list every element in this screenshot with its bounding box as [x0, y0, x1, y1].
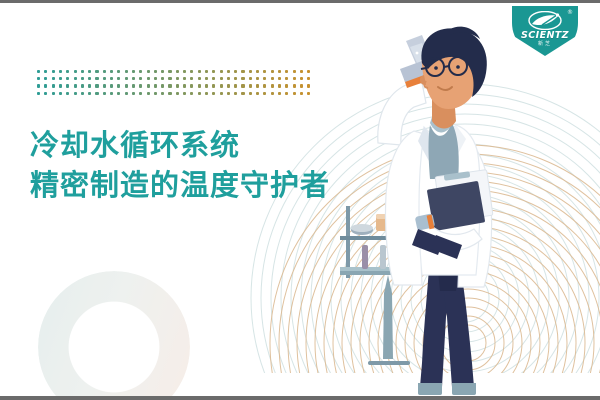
grid-dot — [44, 84, 47, 87]
grid-dot — [168, 92, 171, 95]
grid-dot — [139, 77, 142, 80]
brand-logo[interactable]: SCIENTZ 新芝 ® — [512, 6, 578, 56]
grid-dot — [227, 84, 230, 87]
grid-dot — [227, 92, 230, 95]
grid-dot — [147, 77, 150, 80]
grid-dot — [95, 84, 98, 87]
grid-dot — [66, 77, 69, 80]
grid-dot — [81, 92, 84, 95]
grid-dot — [110, 84, 113, 87]
grid-dot — [278, 70, 281, 73]
grid-dot — [88, 70, 91, 73]
grid-dot — [285, 92, 288, 95]
grid-dot — [117, 84, 120, 87]
grid-dot — [95, 77, 98, 80]
grid-dot — [183, 84, 186, 87]
grid-dot — [256, 84, 259, 87]
grid-dot — [285, 84, 288, 87]
grid-dot — [81, 84, 84, 87]
grid-dot — [59, 84, 62, 87]
grid-dot — [161, 70, 164, 73]
grid-dot — [176, 77, 179, 80]
grid-dot — [293, 84, 296, 87]
grid-dot — [125, 77, 128, 80]
grid-dot — [52, 77, 55, 80]
grid-dot — [249, 70, 252, 73]
grid-dot — [110, 70, 113, 73]
grid-dot — [161, 77, 164, 80]
grid-dot — [285, 70, 288, 73]
grid-dot — [307, 92, 310, 95]
grid-dot — [234, 70, 237, 73]
headline-line-1: 冷却水循环系统 — [30, 125, 330, 165]
grid-dot — [183, 70, 186, 73]
grid-dot — [147, 92, 150, 95]
grid-dot — [249, 92, 252, 95]
grid-dot — [212, 77, 215, 80]
logo-chinese-name: 新芝 — [538, 41, 552, 47]
grid-dot — [271, 92, 274, 95]
grid-dot — [154, 84, 157, 87]
grid-dot — [66, 70, 69, 73]
grid-dot — [132, 70, 135, 73]
grid-dot — [59, 70, 62, 73]
grid-dot — [271, 84, 274, 87]
clipboard-prop — [427, 170, 493, 232]
grid-dot — [147, 70, 150, 73]
grid-dot — [81, 70, 84, 73]
grid-dot — [168, 70, 171, 73]
grid-dot — [125, 84, 128, 87]
grid-dot — [44, 77, 47, 80]
grid-dot — [139, 92, 142, 95]
grid-dot — [132, 92, 135, 95]
grid-dot — [190, 84, 193, 87]
grid-dot — [110, 92, 113, 95]
grid-dot — [293, 92, 296, 95]
grid-dot — [293, 70, 296, 73]
grid-dot — [278, 84, 281, 87]
grid-dot — [59, 92, 62, 95]
grid-dot — [103, 84, 106, 87]
grid-dot — [249, 84, 252, 87]
grid-dot — [37, 92, 40, 95]
grid-dot — [307, 84, 310, 87]
registered-trademark-icon: ® — [567, 9, 573, 16]
grid-dot — [198, 70, 201, 73]
grid-dot — [256, 70, 259, 73]
grid-dot — [212, 84, 215, 87]
grid-dot — [285, 77, 288, 80]
grid-dot — [198, 77, 201, 80]
grid-dot — [154, 92, 157, 95]
grid-dot — [241, 84, 244, 87]
grid-dot — [234, 92, 237, 95]
grid-dot — [271, 77, 274, 80]
grid-dot — [74, 84, 77, 87]
grid-dot — [103, 92, 106, 95]
grid-dot — [95, 70, 98, 73]
grid-dot — [52, 70, 55, 73]
grid-dot — [263, 92, 266, 95]
grid-dot — [241, 70, 244, 73]
grid-dot — [234, 84, 237, 87]
grid-dot — [132, 77, 135, 80]
grid-dot — [205, 70, 208, 73]
grid-dot — [212, 92, 215, 95]
grid-dot — [161, 84, 164, 87]
grid-dot — [263, 77, 266, 80]
grid-dot — [307, 70, 310, 73]
grid-dot — [263, 84, 266, 87]
grid-dot — [44, 70, 47, 73]
grid-dot — [37, 84, 40, 87]
grid-dot — [168, 84, 171, 87]
logo-wordmark: SCIENTZ — [521, 31, 569, 41]
grid-dot — [300, 92, 303, 95]
grid-dot — [227, 77, 230, 80]
grid-dot — [139, 70, 142, 73]
grid-dot — [117, 92, 120, 95]
scientz-swoosh-emblem-icon — [528, 11, 562, 30]
grid-dot — [183, 92, 186, 95]
dot-grid-decoration — [37, 70, 313, 100]
grid-dot — [117, 70, 120, 73]
grid-dot — [278, 92, 281, 95]
grid-dot — [300, 77, 303, 80]
grid-dot — [307, 77, 310, 80]
grid-dot — [205, 84, 208, 87]
grid-dot — [176, 70, 179, 73]
grid-dot — [176, 84, 179, 87]
grid-dot — [139, 84, 142, 87]
grid-dot — [256, 92, 259, 95]
grid-dot — [161, 92, 164, 95]
grid-dot — [154, 77, 157, 80]
grid-dot — [81, 77, 84, 80]
grid-dot — [205, 77, 208, 80]
headline-block: 冷却水循环系统 精密制造的温度守护者 — [30, 125, 330, 205]
grid-dot — [263, 70, 266, 73]
grid-dot — [59, 77, 62, 80]
grid-dot — [168, 77, 171, 80]
grid-dot — [66, 84, 69, 87]
promo-banner: 冷却水循环系统 精密制造的温度守护者 — [0, 0, 600, 400]
headline-line-2: 精密制造的温度守护者 — [30, 165, 330, 205]
grid-dot — [190, 92, 193, 95]
grid-dot — [74, 92, 77, 95]
pale-ring-decoration — [38, 271, 190, 396]
grid-dot — [234, 77, 237, 80]
grid-dot — [220, 77, 223, 80]
grid-dot — [183, 77, 186, 80]
grid-dot — [241, 77, 244, 80]
grid-dot — [103, 77, 106, 80]
grid-dot — [190, 70, 193, 73]
grid-dot — [271, 70, 274, 73]
grid-dot — [44, 92, 47, 95]
grid-dot — [66, 92, 69, 95]
grid-dot — [249, 77, 252, 80]
grid-dot — [241, 92, 244, 95]
grid-dot — [74, 70, 77, 73]
grid-dot — [125, 70, 128, 73]
grid-dot — [52, 84, 55, 87]
grid-dot — [147, 84, 150, 87]
grid-dot — [95, 92, 98, 95]
grid-dot — [88, 84, 91, 87]
grid-dot — [212, 70, 215, 73]
grid-dot — [278, 77, 281, 80]
grid-dot — [190, 77, 193, 80]
grid-dot — [300, 70, 303, 73]
grid-dot — [117, 77, 120, 80]
grid-dot — [198, 92, 201, 95]
grid-dot — [227, 70, 230, 73]
grid-dot — [220, 84, 223, 87]
grid-dot — [52, 92, 55, 95]
grid-dot — [205, 92, 208, 95]
grid-dot — [176, 92, 179, 95]
grid-dot — [220, 92, 223, 95]
grid-dot — [293, 77, 296, 80]
grid-dot — [132, 84, 135, 87]
grid-dot — [37, 77, 40, 80]
grid-dot — [220, 70, 223, 73]
grid-dot — [198, 84, 201, 87]
grid-dot — [88, 92, 91, 95]
grid-dot — [88, 77, 91, 80]
grid-dot — [256, 77, 259, 80]
scientist-head — [420, 27, 487, 109]
grid-dot — [103, 70, 106, 73]
grid-dot — [125, 92, 128, 95]
grid-dot — [37, 70, 40, 73]
scientist-illustration — [318, 23, 600, 400]
grid-dot — [110, 77, 113, 80]
grid-dot — [154, 70, 157, 73]
grid-dot — [300, 84, 303, 87]
grid-dot — [74, 77, 77, 80]
